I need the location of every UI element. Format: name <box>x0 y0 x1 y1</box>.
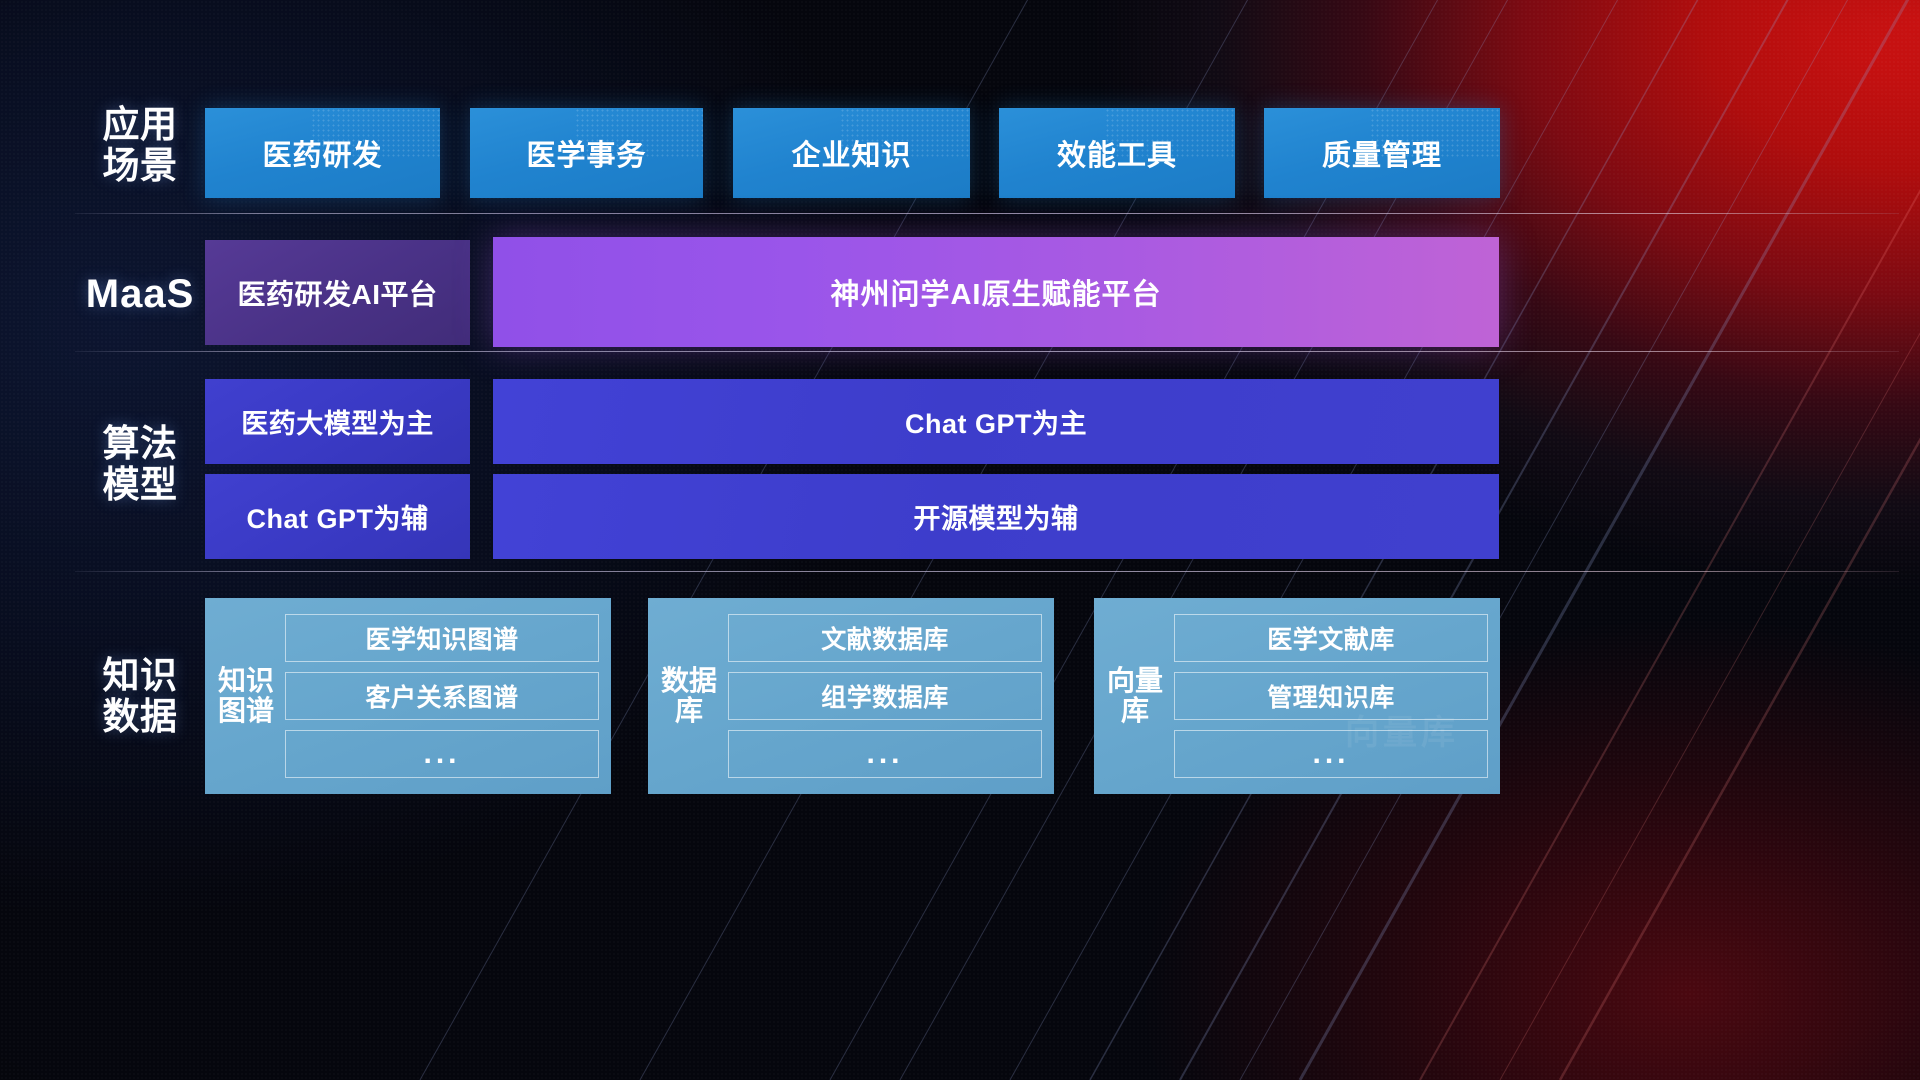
row-label-application: 应用 场景 <box>75 104 205 187</box>
app-box-quality-management[interactable]: 质量管理 <box>1264 108 1500 198</box>
divider-maas-algorithm <box>75 351 1899 352</box>
algorithm-box-chatgpt-secondary[interactable]: Chat GPT为辅 <box>205 474 470 559</box>
knowledge-item-pill-more[interactable]: ... <box>285 730 599 778</box>
row-label-application-line1: 应用 <box>75 104 205 145</box>
knowledge-item-pill[interactable]: 医学知识图谱 <box>285 614 599 662</box>
knowledge-item-pill[interactable]: 管理知识库 <box>1174 672 1488 720</box>
app-box-label: 质量管理 <box>1322 132 1442 174</box>
row-label-maas: MaaS <box>75 272 205 317</box>
algorithm-box-label: Chat GPT为辅 <box>246 497 428 536</box>
row-label-knowledge-line1: 知识 <box>75 655 205 696</box>
row-label-algorithm: 算法 模型 <box>75 423 205 506</box>
knowledge-panel-database[interactable]: 数据库 文献数据库 组学数据库 ... <box>648 598 1054 794</box>
algorithm-box-label: 开源模型为辅 <box>914 497 1079 536</box>
row-label-algorithm-line1: 算法 <box>75 423 205 464</box>
maas-box-label: 神州问学AI原生赋能平台 <box>830 271 1161 313</box>
algorithm-box-label: 医药大模型为主 <box>241 402 434 441</box>
knowledge-panel-vector-store[interactable]: 向量库 医学文献库 管理知识库 ... <box>1094 598 1500 794</box>
algorithm-box-chatgpt-primary[interactable]: Chat GPT为主 <box>493 379 1499 464</box>
knowledge-panel-items: 医学文献库 管理知识库 ... <box>1164 608 1488 784</box>
knowledge-item-pill[interactable]: 医学文献库 <box>1174 614 1488 662</box>
row-label-knowledge-line2: 数据 <box>75 696 205 737</box>
architecture-diagram: 应用 场景 医药研发 医学事务 企业知识 效能工具 质量管理 MaaS 医药研发… <box>0 0 1920 1080</box>
app-box-label: 医药研发 <box>262 132 382 174</box>
knowledge-panel-label: 知识图谱 <box>217 608 275 784</box>
knowledge-item-pill[interactable]: 文献数据库 <box>728 614 1042 662</box>
knowledge-panel-items: 医学知识图谱 客户关系图谱 ... <box>275 608 599 784</box>
row-label-application-line2: 场景 <box>75 145 205 186</box>
knowledge-panel-label: 向量库 <box>1106 608 1164 784</box>
algorithm-box-opensource-secondary[interactable]: 开源模型为辅 <box>493 474 1499 559</box>
row-label-knowledge: 知识 数据 <box>75 655 205 738</box>
app-box-medicine-rnd[interactable]: 医药研发 <box>205 108 440 198</box>
knowledge-item-pill-more[interactable]: ... <box>1174 730 1488 778</box>
app-box-efficiency-tools[interactable]: 效能工具 <box>999 108 1235 198</box>
app-box-enterprise-knowledge[interactable]: 企业知识 <box>733 108 970 198</box>
maas-box-shenzhou-wenxue-platform[interactable]: 神州问学AI原生赋能平台 <box>493 237 1499 347</box>
knowledge-item-pill[interactable]: 客户关系图谱 <box>285 672 599 720</box>
app-box-label: 医学事务 <box>526 132 646 174</box>
algorithm-box-label: Chat GPT为主 <box>905 402 1087 441</box>
row-label-algorithm-line2: 模型 <box>75 464 205 505</box>
knowledge-panel-items: 文献数据库 组学数据库 ... <box>718 608 1042 784</box>
divider-application-maas <box>75 213 1899 214</box>
maas-box-label: 医药研发AI平台 <box>237 273 437 313</box>
knowledge-panel-label: 数据库 <box>660 608 718 784</box>
algorithm-box-medicine-llm-primary[interactable]: 医药大模型为主 <box>205 379 470 464</box>
knowledge-panel-knowledge-graph[interactable]: 知识图谱 医学知识图谱 客户关系图谱 ... <box>205 598 611 794</box>
app-box-label: 效能工具 <box>1057 132 1177 174</box>
row-label-maas-text: MaaS <box>75 272 205 317</box>
knowledge-item-pill-more[interactable]: ... <box>728 730 1042 778</box>
knowledge-item-pill[interactable]: 组学数据库 <box>728 672 1042 720</box>
divider-algorithm-knowledge <box>75 571 1899 572</box>
app-box-label: 企业知识 <box>791 132 911 174</box>
maas-box-medicine-ai-platform[interactable]: 医药研发AI平台 <box>205 240 470 345</box>
app-box-medical-affairs[interactable]: 医学事务 <box>470 108 703 198</box>
